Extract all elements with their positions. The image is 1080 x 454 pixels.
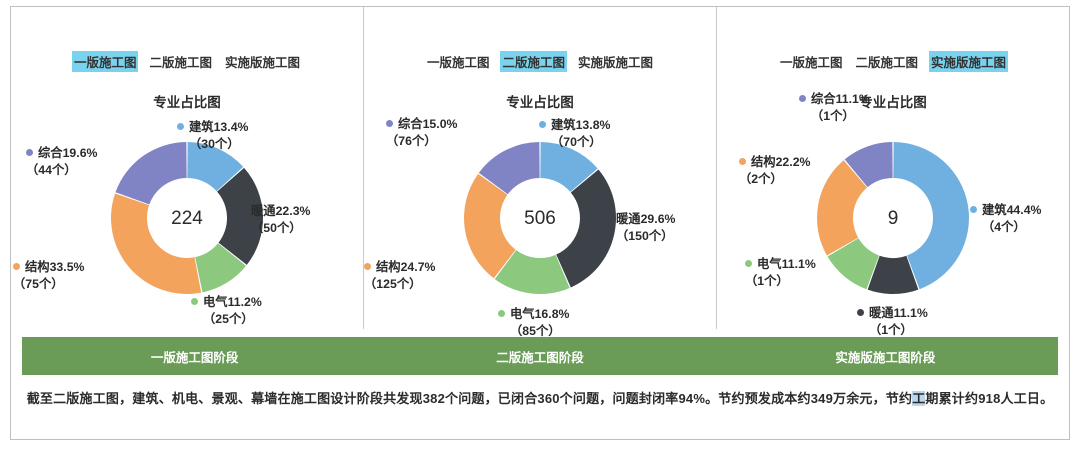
slice-label-text: 结构24.7% [376, 260, 435, 274]
tab-1[interactable]: 一版施工图 [72, 51, 139, 72]
slice-label-count: （30个） [189, 136, 248, 153]
slice-label-电气: 电气11.1%（1个） [745, 256, 816, 289]
legend-dot-icon [364, 263, 371, 270]
slice-label-建筑: 建筑13.8%（70个） [539, 117, 610, 150]
tab-2[interactable]: 二版施工图 [500, 51, 567, 72]
slice-label-暖通: 暖通29.6%（150个） [604, 211, 675, 244]
slice-label-综合: 综合15.0%（76个） [386, 116, 457, 149]
legend-dot-icon [745, 260, 752, 267]
slice-label-结构: 结构22.2%（2个） [739, 154, 810, 187]
slice-label-text: 建筑13.4% [189, 120, 248, 134]
legend-dot-icon [13, 263, 20, 270]
legend-dot-icon [970, 206, 977, 213]
slice-label-text: 电气11.2% [203, 295, 262, 309]
tab-1[interactable]: 一版施工图 [778, 51, 845, 72]
tab-3[interactable]: 实施版施工图 [576, 51, 655, 72]
donut-chart: 506建筑13.8%（70个）暖通29.6%（150个）电气16.8%（85个）… [364, 107, 716, 329]
slice-label-count: （1个） [811, 108, 870, 125]
slice-label-text: 综合19.6% [38, 146, 97, 160]
slice-label-结构: 结构24.7%（125个） [364, 259, 435, 292]
slice-label-暖通: 暖通22.3%（50个） [239, 203, 310, 236]
slice-label-暖通: 暖通11.1%（1个） [857, 305, 928, 338]
slice-label-text: 结构33.5% [25, 260, 84, 274]
tab-bar: 一版施工图二版施工图实施版施工图 [364, 51, 716, 72]
slice-label-综合: 综合11.1%（1个） [799, 91, 870, 124]
tab-2[interactable]: 二版施工图 [147, 51, 214, 72]
legend-dot-icon [239, 207, 246, 214]
slice-label-text: 电气11.1% [757, 257, 816, 271]
slice-label-电气: 电气11.2%（25个） [191, 294, 262, 327]
slice-label-text: 电气16.8% [510, 307, 569, 321]
slice-label-count: （125个） [364, 276, 435, 293]
slice-label-count: （75个） [13, 276, 84, 293]
stage-label-1: 一版施工图阶段 [22, 337, 367, 375]
slice-label-建筑: 建筑13.4%（30个） [177, 119, 248, 152]
stage-label-2: 二版施工图阶段 [367, 337, 712, 375]
chart-panel: 一版施工图二版施工图实施版施工图专业占比图224建筑13.4%（30个）暖通22… [11, 7, 363, 329]
legend-dot-icon [857, 309, 864, 316]
legend-dot-icon [739, 158, 746, 165]
legend-dot-icon [191, 298, 198, 305]
summary-highlight: 工 [912, 391, 925, 406]
slice-label-结构: 结构33.5%（75个） [13, 259, 84, 292]
tab-bar: 一版施工图二版施工图实施版施工图 [11, 51, 363, 72]
donut-center-total: 9 [888, 208, 899, 229]
slice-label-count: （25个） [203, 311, 262, 328]
legend-dot-icon [386, 120, 393, 127]
slice-label-count: （76个） [386, 133, 457, 150]
donut-slice-综合 [115, 142, 186, 204]
slice-label-text: 结构22.2% [751, 155, 810, 169]
summary-part1: 截至二版施工图，建筑、机电、景观、幕墙在施工图设计阶段共发现382个问题，已闭合… [27, 391, 913, 406]
slice-label-text: 暖通11.1% [869, 306, 928, 320]
summary-part2: 期累计约918人工日。 [925, 391, 1053, 406]
tab-3[interactable]: 实施版施工图 [223, 51, 302, 72]
chart-panel: 一版施工图二版施工图实施版施工图专业占比图506建筑13.8%（70个）暖通29… [363, 7, 716, 329]
legend-dot-icon [604, 215, 611, 222]
tab-2[interactable]: 二版施工图 [853, 51, 920, 72]
stage-bar: 一版施工图阶段二版施工图阶段实施版施工图阶段 [22, 337, 1058, 375]
slice-label-text: 建筑44.4% [982, 203, 1041, 217]
slice-label-text: 建筑13.8% [551, 118, 610, 132]
slice-label-text: 暖通22.3% [251, 204, 310, 218]
slice-label-count: （1个） [745, 273, 816, 290]
slice-label-电气: 电气16.8%（85个） [498, 306, 569, 339]
report-dashboard: 一版施工图二版施工图实施版施工图专业占比图224建筑13.4%（30个）暖通22… [0, 0, 1080, 454]
stage-label-3: 实施版施工图阶段 [713, 337, 1058, 375]
slice-label-综合: 综合19.6%（44个） [26, 145, 97, 178]
slice-label-建筑: 建筑44.4%（4个） [970, 202, 1041, 235]
donut-center-total: 506 [524, 208, 556, 229]
slice-label-text: 综合15.0% [398, 117, 457, 131]
donut-chart: 9建筑44.4%（4个）暖通11.1%（1个）电气11.1%（1个）结构22.2… [717, 107, 1069, 329]
slice-label-count: （150个） [616, 228, 675, 245]
summary-text: 截至二版施工图，建筑、机电、景观、幕墙在施工图设计阶段共发现382个问题，已闭合… [0, 388, 1080, 407]
slice-label-text: 暖通29.6% [616, 212, 675, 226]
legend-dot-icon [177, 123, 184, 130]
donut-center-total: 224 [171, 208, 203, 229]
slice-label-text: 综合11.1% [811, 92, 870, 106]
slice-label-count: （2个） [739, 171, 810, 188]
slice-label-count: （44个） [26, 162, 97, 179]
chart-panel: 一版施工图二版施工图实施版施工图专业占比图9建筑44.4%（4个）暖通11.1%… [716, 7, 1069, 329]
donut-chart: 224建筑13.4%（30个）暖通22.3%（50个）电气11.2%（25个）结… [11, 107, 363, 329]
panel-row: 一版施工图二版施工图实施版施工图专业占比图224建筑13.4%（30个）暖通22… [11, 7, 1069, 329]
legend-dot-icon [26, 149, 33, 156]
slice-label-count: （50个） [251, 220, 310, 237]
tab-1[interactable]: 一版施工图 [425, 51, 492, 72]
slice-label-count: （4个） [982, 219, 1041, 236]
legend-dot-icon [799, 95, 806, 102]
legend-dot-icon [498, 310, 505, 317]
slice-label-count: （1个） [869, 322, 928, 339]
slice-label-count: （70个） [551, 134, 610, 151]
tab-3[interactable]: 实施版施工图 [929, 51, 1008, 72]
tab-bar: 一版施工图二版施工图实施版施工图 [717, 51, 1069, 72]
legend-dot-icon [539, 121, 546, 128]
